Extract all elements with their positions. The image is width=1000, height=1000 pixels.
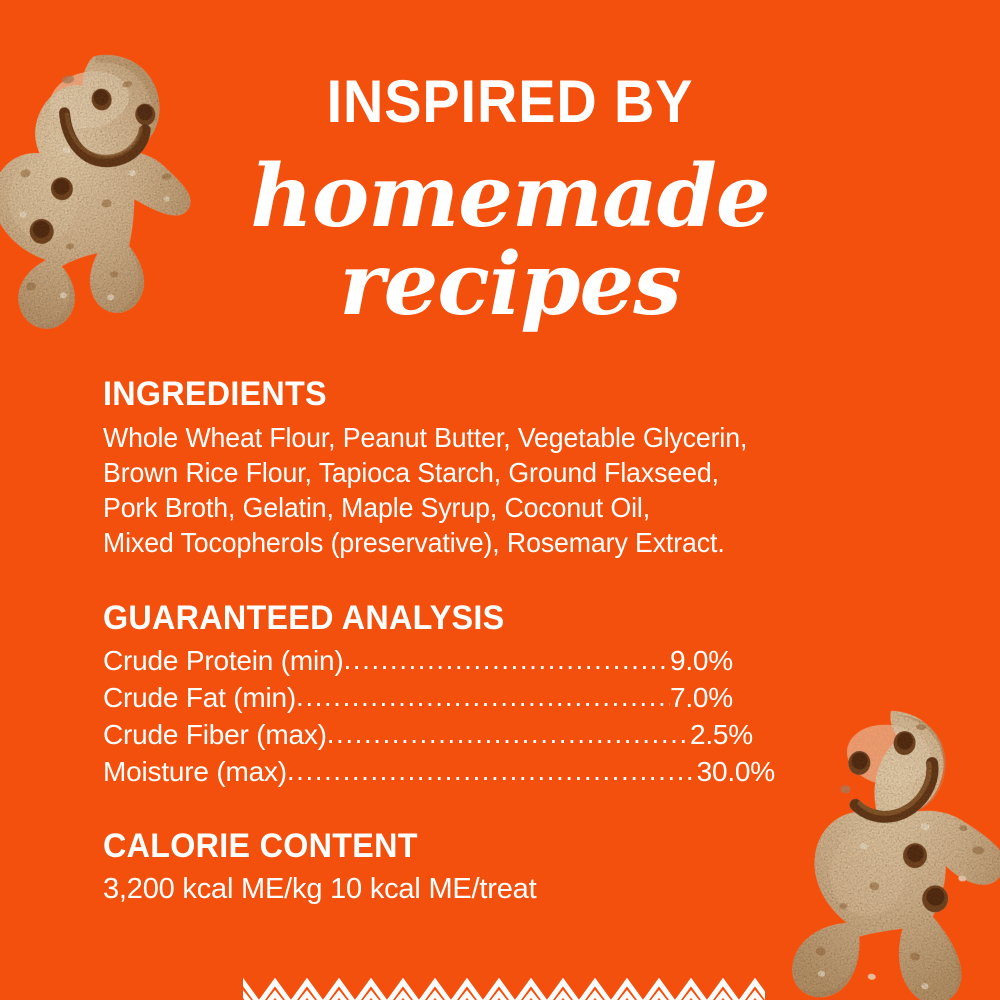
- analysis-value: 7.0%: [670, 679, 733, 716]
- ingredients-heading: INGREDIENTS: [103, 374, 854, 414]
- analysis-value: 9.0%: [670, 642, 733, 679]
- analysis-row: Moisture (max) .........................…: [103, 753, 775, 790]
- product-label-panel: INSPIRED BY homemade recipes INGREDIENTS…: [0, 0, 1000, 1000]
- analysis-row: Crude Fat (min) ........................…: [103, 679, 733, 716]
- guaranteed-analysis-rows: Crude Protein (min) ....................…: [103, 642, 893, 790]
- headline-inspired-by: INSPIRED BY: [268, 72, 752, 132]
- guaranteed-analysis-heading: GUARANTEED ANALYSIS: [103, 598, 854, 638]
- spacer: [103, 790, 893, 826]
- analysis-value: 2.5%: [690, 716, 753, 753]
- header-block: INSPIRED BY homemade recipes: [250, 72, 770, 328]
- chevron-zigzag-border: [243, 956, 765, 1000]
- analysis-label: Moisture (max): [103, 753, 287, 790]
- analysis-row: Crude Fiber (max) ......................…: [103, 716, 753, 753]
- dot-leader: ........................................…: [327, 715, 690, 752]
- ingredients-line: Pork Broth, Gelatin, Maple Syrup, Coconu…: [103, 490, 869, 525]
- calorie-content-heading: CALORIE CONTENT: [103, 826, 854, 866]
- dot-leader: ........................................…: [287, 752, 697, 789]
- analysis-value: 30.0%: [697, 753, 775, 790]
- gingerbread-man-cookie-top-left: [0, 23, 229, 361]
- headline-recipes: recipes: [250, 242, 770, 328]
- ingredients-line: Whole Wheat Flour, Peanut Butter, Vegeta…: [103, 420, 869, 455]
- analysis-label: Crude Protein (min): [103, 642, 344, 679]
- ingredients-line: Mixed Tocopherols (preservative), Rosema…: [103, 525, 869, 560]
- label-sections: INGREDIENTS Whole Wheat Flour, Peanut Bu…: [103, 374, 893, 908]
- dot-leader: ........................................…: [296, 678, 670, 715]
- ingredients-section: INGREDIENTS Whole Wheat Flour, Peanut Bu…: [103, 374, 893, 560]
- analysis-row: Crude Protein (min) ....................…: [103, 642, 733, 679]
- guaranteed-analysis-section: GUARANTEED ANALYSIS Crude Protein (min) …: [103, 598, 893, 790]
- analysis-label: Crude Fat (min): [103, 679, 296, 716]
- ingredients-line: Brown Rice Flour, Tapioca Starch, Ground…: [103, 455, 869, 490]
- analysis-label: Crude Fiber (max): [103, 716, 327, 753]
- headline-homemade: homemade: [250, 154, 770, 240]
- spacer: [103, 560, 893, 598]
- ingredients-list: Whole Wheat Flour, Peanut Butter, Vegeta…: [103, 420, 869, 560]
- dot-leader: ........................................…: [344, 641, 670, 678]
